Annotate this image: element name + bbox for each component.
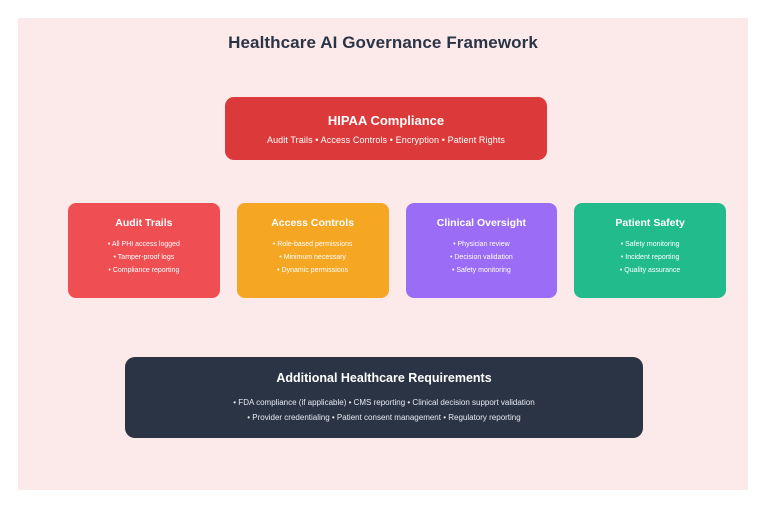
pillar-item: • Dynamic permissions xyxy=(277,264,348,277)
pillar-card-access-controls[interactable]: Access Controls • Role-based permissions… xyxy=(237,203,389,298)
pillar-item: • Compliance reporting xyxy=(108,264,179,277)
pillar-item: • Role-based permissions xyxy=(273,238,353,251)
pillar-item: • Tamper-proof logs xyxy=(114,251,175,264)
pillar-item: • Decision validation xyxy=(450,251,513,264)
footer-requirements-line: • Provider credentialing • Patient conse… xyxy=(247,410,520,425)
hipaa-card-subtitle: Audit Trails • Access Controls • Encrypt… xyxy=(267,135,505,145)
pillar-card-audit-trails[interactable]: Audit Trails • All PHI access logged • T… xyxy=(68,203,220,298)
diagram-canvas: Healthcare AI Governance Framework HIPAA… xyxy=(18,18,748,490)
pillar-item: • Safety monitoring xyxy=(621,238,680,251)
pillar-item: • All PHI access logged xyxy=(108,238,180,251)
pillar-title: Audit Trails xyxy=(115,217,172,229)
page-title: Healthcare AI Governance Framework xyxy=(18,33,748,53)
pillar-item: • Safety monitoring xyxy=(452,264,511,277)
additional-requirements-panel[interactable]: Additional Healthcare Requirements • FDA… xyxy=(125,357,643,438)
footer-requirements-line: • FDA compliance (if applicable) • CMS r… xyxy=(233,395,534,410)
pillar-item: • Quality assurance xyxy=(620,264,680,277)
pillar-item: • Incident reporting xyxy=(621,251,680,264)
pillar-title: Access Controls xyxy=(271,217,354,229)
pillar-title: Patient Safety xyxy=(615,217,684,229)
footer-panel-title: Additional Healthcare Requirements xyxy=(276,371,491,385)
pillar-item: • Minimum necessary xyxy=(279,251,346,264)
pillar-title: Clinical Oversight xyxy=(437,217,526,229)
pillar-item: • Physician review xyxy=(453,238,510,251)
hipaa-card-title: HIPAA Compliance xyxy=(328,113,444,128)
pillar-row: Audit Trails • All PHI access logged • T… xyxy=(68,203,726,298)
hipaa-compliance-card[interactable]: HIPAA Compliance Audit Trails • Access C… xyxy=(225,97,547,160)
pillar-card-clinical-oversight[interactable]: Clinical Oversight • Physician review • … xyxy=(406,203,558,298)
pillar-card-patient-safety[interactable]: Patient Safety • Safety monitoring • Inc… xyxy=(574,203,726,298)
